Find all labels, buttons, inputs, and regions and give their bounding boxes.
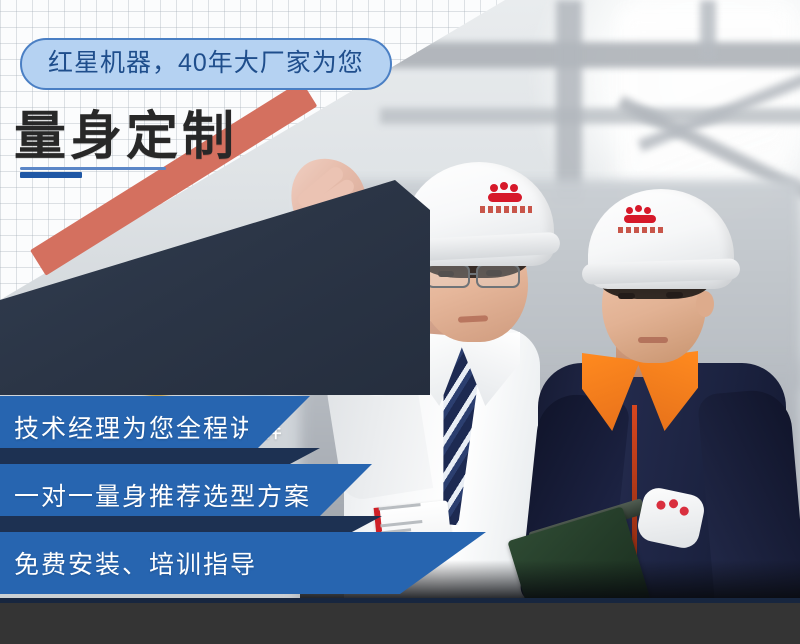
bottom-dark-band [0,603,800,644]
worker-eye-right [666,292,683,298]
eyeglasses-lens-left [426,264,470,288]
worker-ear [696,291,714,317]
title-underline-thin [20,167,166,170]
promo-banner: n [0,0,800,644]
support-column-secondary [700,0,716,60]
feature-separator-1-arrow-icon [290,448,320,464]
hongxing-helmet-logo-icon [624,207,656,224]
feature-bar-2-label: 一对一量身推荐选型方案 [0,477,311,513]
page-title: 量身定制 [14,94,238,169]
feature-bar-1-label: 技术经理为您全程讲解 [0,409,284,445]
ceiling-beam-horizontal [380,42,800,68]
helmet-brand-text [618,227,666,233]
feature-bar-list: 技术经理为您全程讲解 一对一量身推荐选型方案 免费安装、培训指导 [0,396,800,601]
feature-separator-1 [0,448,290,464]
feature-separator-2 [0,516,352,532]
worker-eye-left [618,293,635,299]
worker-mouth [638,337,668,343]
eyeglasses-bridge [470,273,478,275]
title-underline-thick [20,172,82,178]
feature-bar-3[interactable]: 免费安装、培训指导 [0,532,400,594]
feature-bar-3-arrow-icon [400,532,486,594]
feature-bar-3-label: 免费安装、培训指导 [0,545,257,581]
feature-separator-2-arrow-icon [352,516,382,532]
tagline-badge: 红星机器，40年大厂家为您 [20,38,392,90]
